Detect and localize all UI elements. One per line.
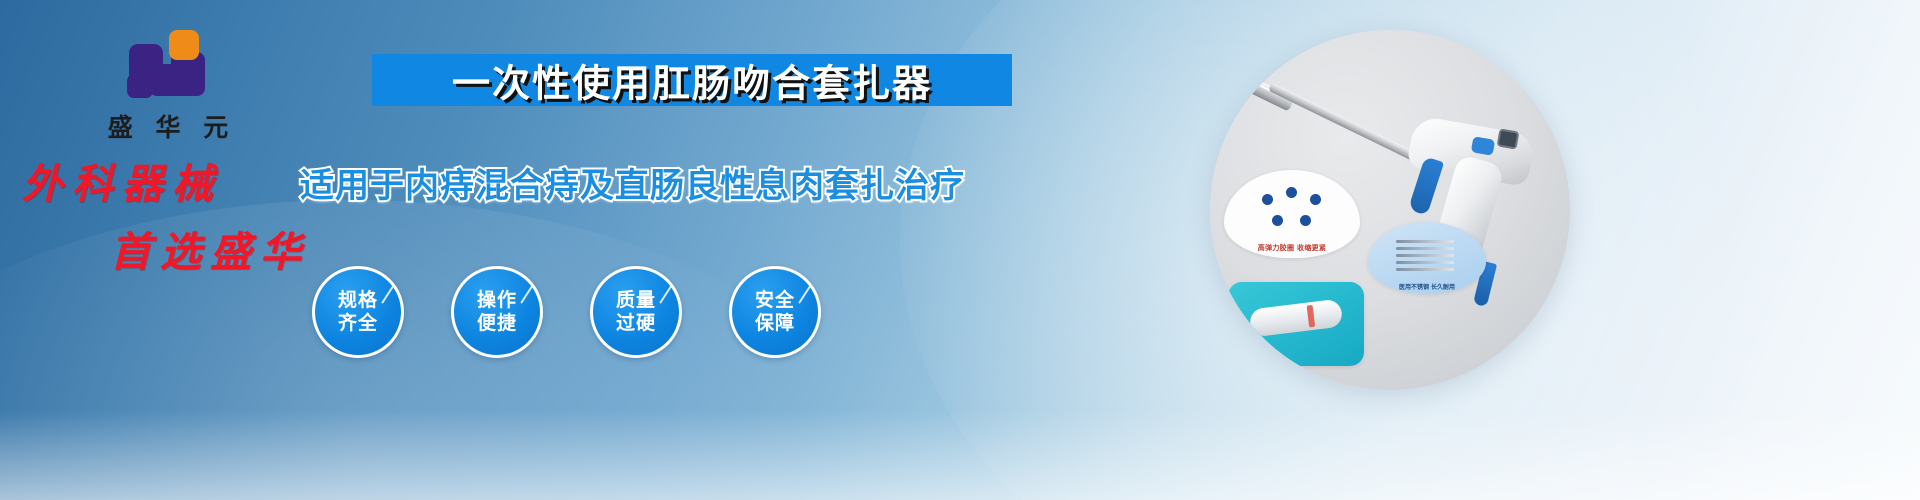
feature-badge-4[interactable]: 安全 保障 (729, 266, 821, 358)
feature-badge-3[interactable]: 质量 过硬 (590, 266, 682, 358)
anoscope-tube-icon (1249, 298, 1344, 337)
slash-decoration-icon (520, 284, 534, 304)
needle-icon (1396, 268, 1454, 271)
brand-name: 盛 华 元 (78, 108, 258, 144)
logo-mark-icon (125, 28, 211, 102)
inset-rings-card: 高弹力胶圈 收缩更紧 (1224, 170, 1360, 258)
needle-icon (1396, 261, 1454, 264)
ligation-ring-icon (1272, 215, 1283, 226)
page-title: 一次性使用肛肠吻合套扎器 (372, 53, 1012, 108)
feature-badge-4-line1: 安全 (755, 289, 795, 312)
feature-badge-1-line1: 规格 (338, 289, 378, 312)
background-bottom-fade (0, 410, 1920, 500)
ligation-ring-icon (1286, 187, 1297, 198)
needle-icon (1396, 240, 1454, 243)
page-subtitle: 适用于内痔混合痔及直肠良性息肉套扎治疗 (300, 158, 920, 207)
ligation-ring-icon (1310, 194, 1321, 205)
feature-badge-list: 规格 齐全 操作 便捷 质量 过硬 安全 保障 (312, 266, 852, 366)
feature-badge-2[interactable]: 操作 便捷 (451, 266, 543, 358)
slash-decoration-icon (659, 284, 673, 304)
ligation-ring-icon (1300, 215, 1311, 226)
feature-badge-1[interactable]: 规格 齐全 (312, 266, 404, 358)
feature-badge-1-line2: 齐全 (338, 312, 378, 335)
feature-badge-3-line1: 质量 (616, 289, 656, 312)
ligation-ring-icon (1262, 194, 1273, 205)
feature-badge-4-line2: 保障 (755, 312, 795, 335)
feature-badge-2-line2: 便捷 (477, 312, 517, 335)
brand-logo[interactable]: 盛 华 元 (78, 28, 258, 144)
slash-decoration-icon (798, 284, 812, 304)
stapler-label-pad (1497, 128, 1520, 149)
inset-needles-card: 医用不锈钢 长久耐用 (1368, 222, 1486, 294)
inset-tube-card (1228, 282, 1364, 366)
feature-badge-2-line1: 操作 (477, 289, 517, 312)
product-photo: 高弹力胶圈 收缩更紧 医用不锈钢 长久耐用 (1210, 30, 1570, 390)
logo-block-accent (169, 30, 199, 60)
needle-icon (1396, 247, 1454, 250)
inset-rings-caption: 高弹力胶圈 收缩更紧 (1224, 243, 1360, 253)
feature-badge-3-line2: 过硬 (616, 312, 656, 335)
slash-decoration-icon (381, 284, 395, 304)
inset-needles-caption: 医用不锈钢 长久耐用 (1368, 282, 1486, 291)
needle-icon (1396, 254, 1454, 257)
headline-bar: 一次性使用肛肠吻合套扎器 (372, 54, 1012, 106)
